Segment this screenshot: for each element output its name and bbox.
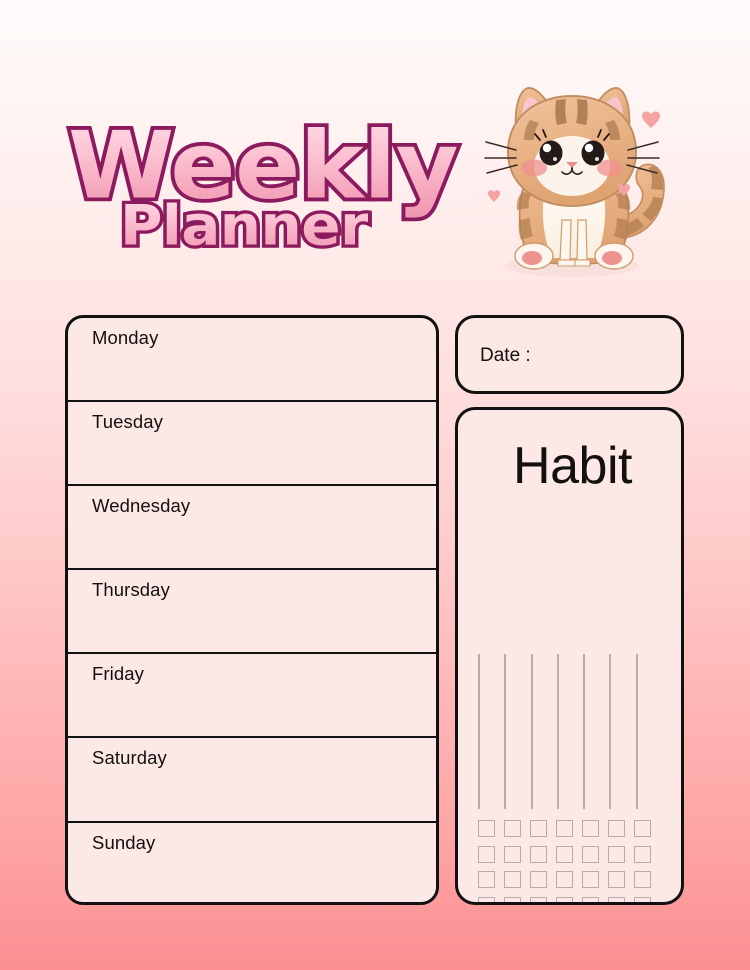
habit-label-lines [478, 654, 667, 809]
day-row-sunday[interactable]: Sunday [68, 823, 436, 905]
day-label: Friday [92, 663, 144, 684]
habit-checkbox[interactable] [582, 820, 599, 837]
habit-checkbox[interactable] [504, 820, 521, 837]
day-row-saturday[interactable]: Saturday [68, 738, 436, 822]
habit-checkbox[interactable] [634, 871, 651, 888]
habit-checkbox[interactable] [582, 846, 599, 863]
habit-checkbox[interactable] [556, 820, 573, 837]
day-row-thursday[interactable]: Thursday [68, 570, 436, 654]
day-label: Saturday [92, 747, 167, 768]
habit-checkbox[interactable] [582, 897, 599, 906]
habit-label-line[interactable] [504, 654, 506, 809]
habit-checkbox[interactable] [530, 846, 547, 863]
habit-grid-row [478, 871, 670, 888]
habit-checkbox[interactable] [634, 846, 651, 863]
habit-checkbox[interactable] [608, 846, 625, 863]
habit-checkbox[interactable] [608, 871, 625, 888]
date-field[interactable]: Date : [455, 315, 684, 394]
habit-label-line[interactable] [478, 654, 480, 809]
cat-illustration [472, 70, 687, 288]
habit-checkbox[interactable] [556, 871, 573, 888]
habit-checkbox[interactable] [504, 871, 521, 888]
habit-label-line[interactable] [636, 654, 638, 809]
habit-checkbox[interactable] [608, 820, 625, 837]
habit-checkbox[interactable] [478, 897, 495, 906]
page-title: Weekly Weekly Planner Planner [62, 112, 442, 262]
habit-checkbox[interactable] [478, 846, 495, 863]
day-label: Tuesday [92, 411, 163, 432]
habit-label-line[interactable] [531, 654, 533, 809]
day-label: Thursday [92, 579, 170, 600]
day-label: Sunday [92, 832, 155, 853]
habit-checkbox[interactable] [478, 820, 495, 837]
habit-label-line[interactable] [609, 654, 611, 809]
habit-checkbox[interactable] [582, 871, 599, 888]
habit-checkbox[interactable] [530, 820, 547, 837]
habit-checkbox[interactable] [530, 871, 547, 888]
habit-grid-row [478, 846, 670, 863]
habit-tracker-panel: Habit [455, 407, 684, 905]
habit-title: Habit [458, 436, 684, 496]
habit-checkbox[interactable] [634, 820, 651, 837]
habit-checkbox[interactable] [634, 897, 651, 906]
habit-checkbox[interactable] [556, 846, 573, 863]
date-label: Date : [480, 345, 531, 367]
habit-checkbox[interactable] [504, 897, 521, 906]
right-column: Date : Habit [455, 315, 684, 905]
habit-checkbox[interactable] [530, 897, 547, 906]
habit-checkbox[interactable] [504, 846, 521, 863]
day-label: Wednesday [92, 495, 190, 516]
habit-label-line[interactable] [557, 654, 559, 809]
weekly-days-panel: Monday Tuesday Wednesday Thursday Friday… [65, 315, 439, 905]
habit-checkbox[interactable] [556, 897, 573, 906]
day-row-friday[interactable]: Friday [68, 654, 436, 738]
title-planner: Planner [120, 194, 368, 258]
day-row-tuesday[interactable]: Tuesday [68, 402, 436, 486]
page-header: Weekly Weekly Planner Planner [0, 0, 750, 300]
habit-checkbox[interactable] [608, 897, 625, 906]
day-label: Monday [92, 327, 158, 348]
habit-grid-row [478, 897, 670, 906]
habit-checkbox[interactable] [478, 871, 495, 888]
day-row-wednesday[interactable]: Wednesday [68, 486, 436, 570]
habit-checkbox-grid [478, 820, 670, 905]
habit-label-line[interactable] [583, 654, 585, 809]
day-row-monday[interactable]: Monday [68, 318, 436, 402]
habit-grid-row [478, 820, 670, 837]
